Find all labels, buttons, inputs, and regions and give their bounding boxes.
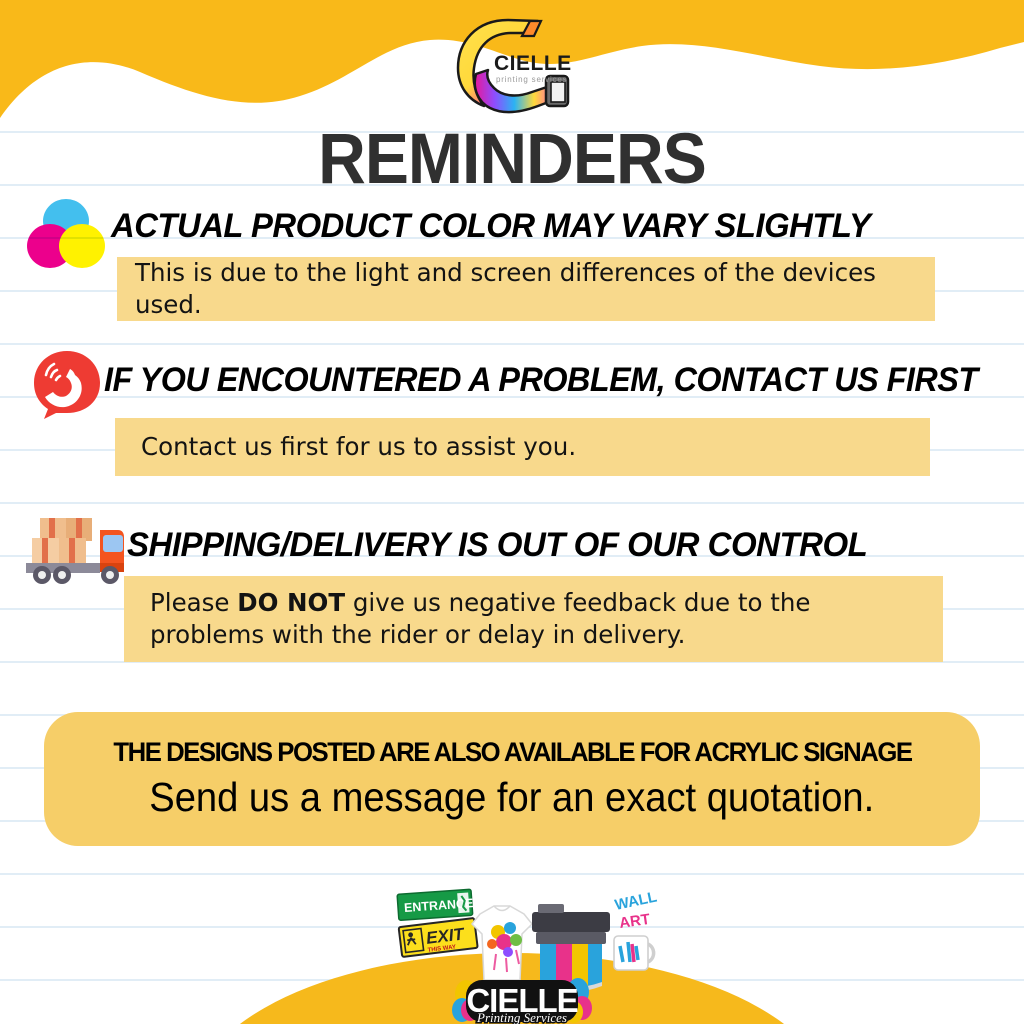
reminder-body-1: This is due to the light and screen diff… — [135, 258, 876, 319]
reminders-poster: CIELLE printing services REMINDERS ACTUA… — [0, 0, 1024, 1024]
footer-logo: CIELLE Printing Services — [452, 978, 592, 1024]
reminder-heading-1: ACTUAL PRODUCT COLOR MAY VARY SLIGHTLY — [111, 207, 870, 246]
header-logo-name: CIELLE — [494, 52, 572, 75]
footer-product-collage: ENTRANCE EXIT THIS WAY — [370, 884, 670, 1024]
reminder-highlight-2: Contact us first for us to assist you. — [115, 418, 930, 476]
reminder-heading-3: SHIPPING/DELIVERY IS OUT OF OUR CONTROL — [127, 526, 867, 565]
reminder-heading-2: IF YOU ENCOUNTERED A PROBLEM, CONTACT US… — [104, 361, 978, 400]
decal-text-1: WALL — [613, 888, 658, 913]
decal-text-2: ART — [618, 911, 651, 932]
phone-call-bubble-icon — [30, 347, 104, 421]
reminder-highlight-1: This is due to the light and screen diff… — [117, 257, 935, 321]
printer-graphic — [532, 904, 610, 992]
reminder-body-3-pre: Please — [150, 588, 237, 617]
header-logo-tagline: printing services — [496, 75, 567, 84]
header-logo: CIELLE printing services — [446, 12, 578, 122]
acrylic-signage-callout: THE DESIGNS POSTED ARE ALSO AVAILABLE FO… — [44, 712, 980, 846]
reminder-body-2: Contact us first for us to assist you. — [141, 432, 576, 461]
wall-decal-graphic: WALL ART — [613, 888, 658, 932]
callout-headline: THE DESIGNS POSTED ARE ALSO AVAILABLE FO… — [113, 737, 911, 768]
reminder-highlight-3: Please DO NOT give us negative feedback … — [124, 576, 943, 662]
delivery-truck-icon — [22, 508, 128, 586]
reminder-body-3-emphasis: DO NOT — [237, 588, 345, 617]
mug-graphic — [614, 936, 654, 970]
tshirt-graphic — [472, 906, 532, 980]
page-title: REMINDERS — [36, 124, 988, 195]
footer-logo-tagline: Printing Services — [476, 1010, 567, 1024]
cmyk-circles-icon — [26, 196, 106, 274]
callout-subline: Send us a message for an exact quotation… — [150, 774, 875, 821]
